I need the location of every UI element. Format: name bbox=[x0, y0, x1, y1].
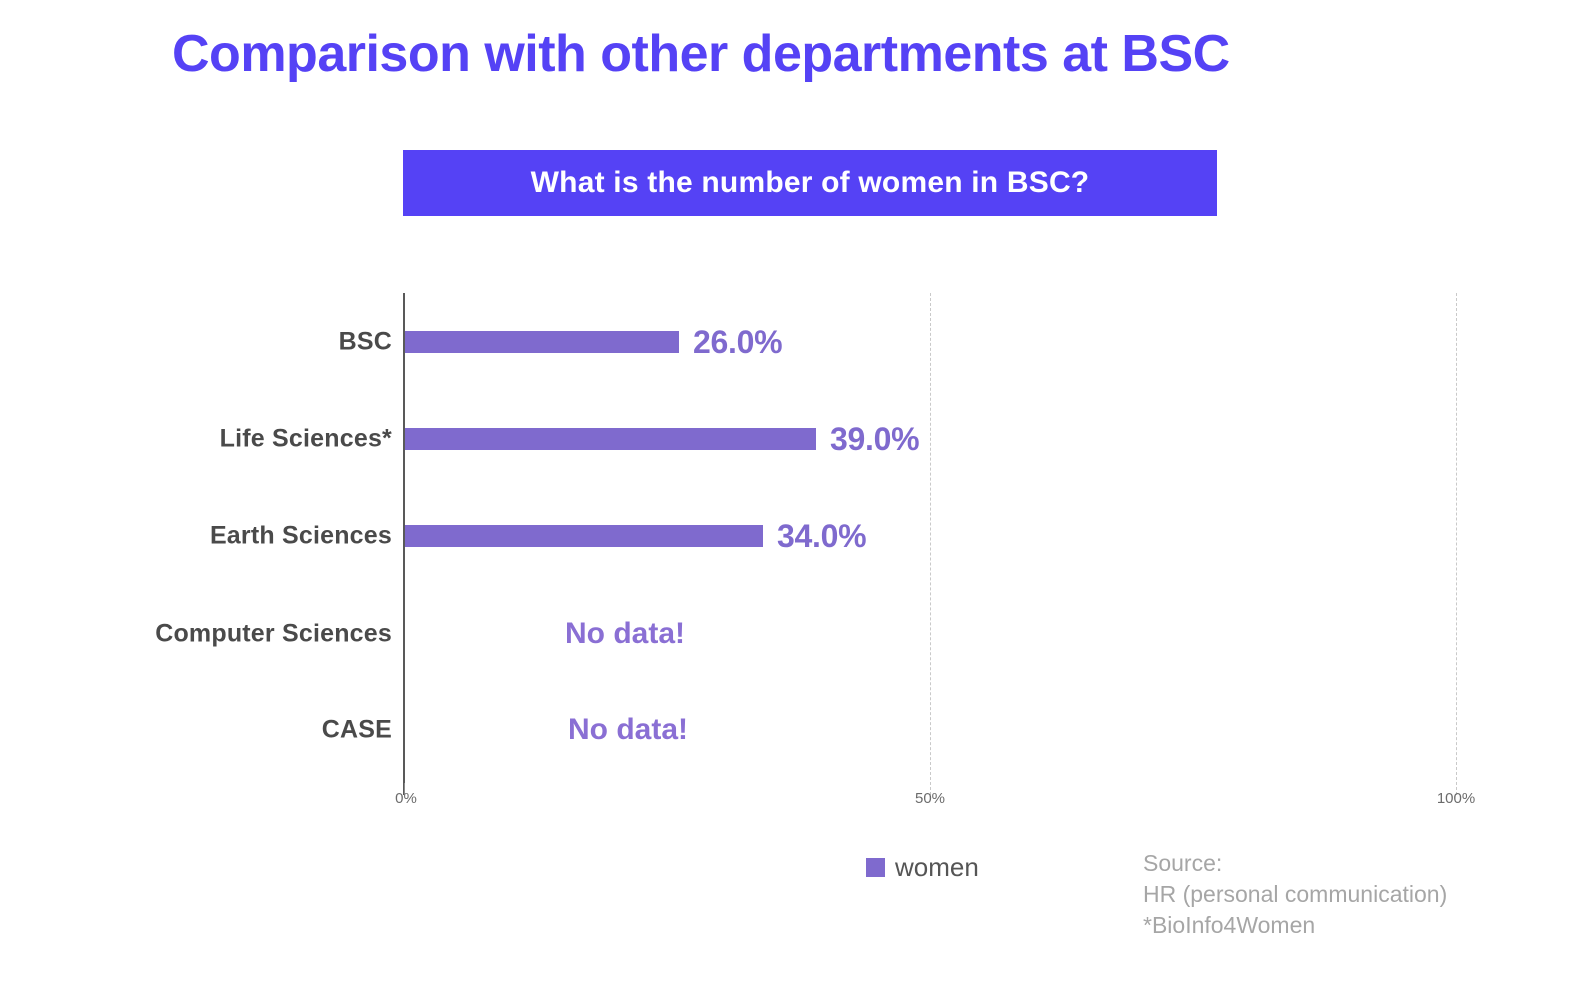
chart-row-computer-sciences: Computer Sciences No data! bbox=[0, 584, 1595, 684]
bar-earth-sciences bbox=[405, 525, 763, 547]
category-label-earth-sciences: Earth Sciences bbox=[210, 522, 392, 551]
bar-life-sciences bbox=[405, 428, 816, 450]
bar-value-life-sciences: 39.0% bbox=[830, 421, 919, 458]
bar-value-earth-sciences: 34.0% bbox=[777, 518, 866, 555]
bar-value-bsc: 26.0% bbox=[693, 324, 782, 361]
legend-label-women: women bbox=[895, 852, 979, 883]
xtick-label-0: 0% bbox=[395, 790, 417, 807]
xtick-label-100: 100% bbox=[1437, 790, 1475, 807]
chart-row-case: CASE No data! bbox=[0, 680, 1595, 780]
source-line-3: *BioInfo4Women bbox=[1143, 910, 1447, 941]
chart-row-earth-sciences: Earth Sciences 34.0% bbox=[0, 486, 1595, 586]
bar-chart: BSC 26.0% Life Sciences* 39.0% Earth Sci… bbox=[0, 0, 1595, 983]
bar-group-life-sciences: 39.0% bbox=[405, 428, 919, 450]
no-data-label-computer-sciences: No data! bbox=[565, 617, 685, 651]
source-line-2: HR (personal communication) bbox=[1143, 879, 1447, 910]
source-note: Source: HR (personal communication) *Bio… bbox=[1143, 848, 1447, 941]
bar-group-earth-sciences: 34.0% bbox=[405, 525, 866, 547]
chart-row-bsc: BSC 26.0% bbox=[0, 292, 1595, 392]
no-data-label-case: No data! bbox=[568, 713, 688, 747]
category-label-case: CASE bbox=[322, 716, 392, 745]
xtick-label-50: 50% bbox=[915, 790, 945, 807]
category-label-computer-sciences: Computer Sciences bbox=[155, 620, 392, 649]
chart-legend: women bbox=[866, 852, 979, 883]
legend-swatch-women-icon bbox=[866, 858, 885, 877]
bar-bsc bbox=[405, 331, 679, 353]
source-line-1: Source: bbox=[1143, 848, 1447, 879]
category-label-bsc: BSC bbox=[339, 328, 392, 357]
chart-row-life-sciences: Life Sciences* 39.0% bbox=[0, 389, 1595, 489]
bar-group-bsc: 26.0% bbox=[405, 331, 782, 353]
category-label-life-sciences: Life Sciences* bbox=[220, 425, 392, 454]
